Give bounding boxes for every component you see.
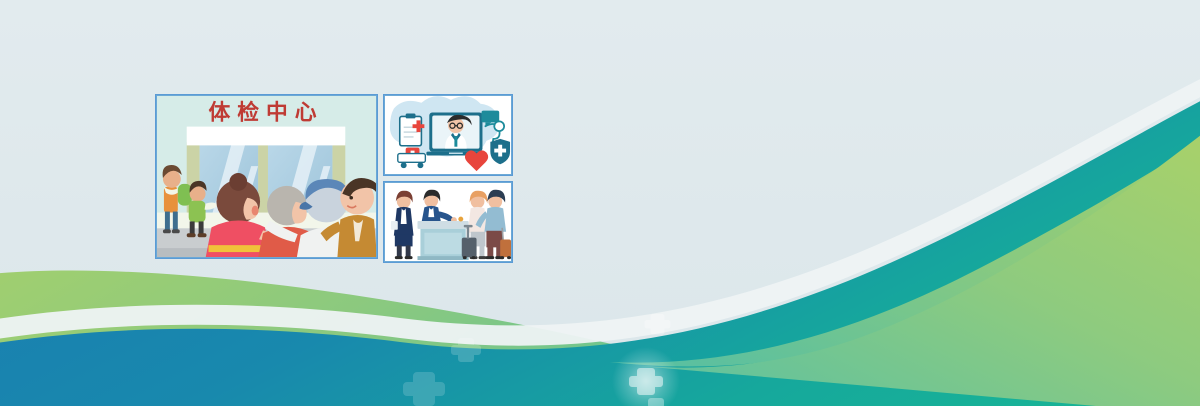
gallery-right-column: 在线医生视频问诊插画 [383, 94, 513, 263]
image-gallery: 体检中心门口排队的人群插画 [155, 94, 515, 264]
health-examination-center-photo[interactable]: 体检中心门口排队的人群插画 [155, 94, 378, 259]
white-banner [187, 127, 346, 146]
hotel-reception-check-in-photo[interactable]: 前台接待与旅客办理入住插画 [383, 181, 513, 263]
banner-page: 体检中心门口排队的人群插画 [0, 0, 1200, 406]
online-doctor-consultation-photo[interactable]: 在线医生视频问诊插画 [383, 94, 513, 176]
reception-counter [417, 217, 468, 260]
clipboard-icon [400, 114, 425, 146]
signboard-text: 体检中心 [209, 100, 324, 126]
medical-cross-tiny [648, 398, 664, 406]
stethoscope-chestpiece [494, 121, 504, 131]
laptop-with-doctor [426, 113, 485, 156]
